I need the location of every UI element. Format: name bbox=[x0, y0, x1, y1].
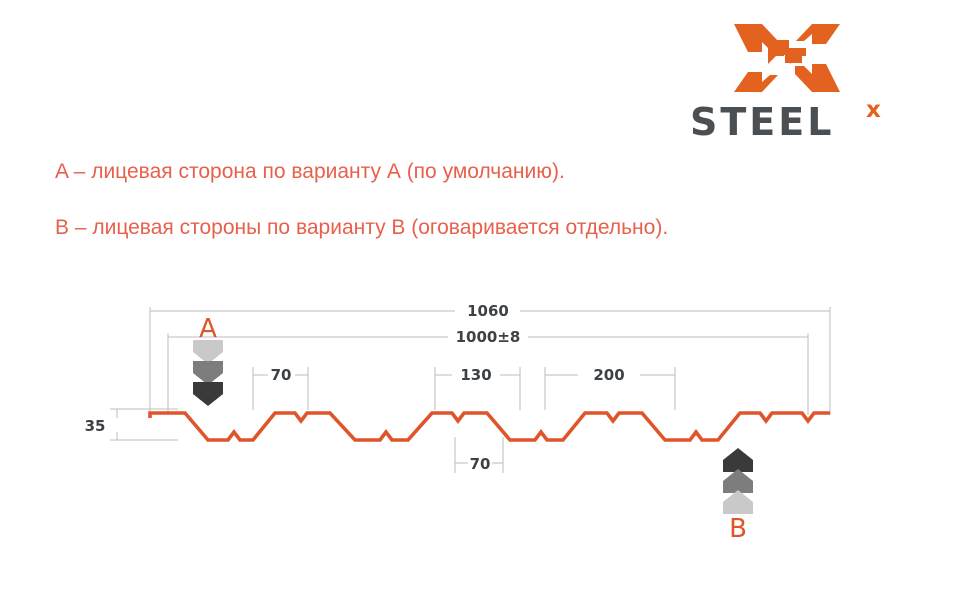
brand-logo: STEEL x bbox=[690, 18, 905, 148]
chevron-marker-a bbox=[193, 340, 223, 406]
dim-ridge-span: 130 bbox=[460, 366, 491, 384]
legend-note-variant-a: A – лицевая сторона по варианту А (по ум… bbox=[55, 160, 565, 184]
steelx-wordmark: STEEL x bbox=[690, 102, 905, 148]
profile-section-path bbox=[150, 413, 830, 440]
dim-useful-width: 1000±8 bbox=[456, 328, 521, 346]
dim-valley-bottom: 70 bbox=[470, 455, 491, 473]
wordmark-superscript-x: x bbox=[866, 98, 881, 122]
side-marker-b-label: B bbox=[729, 514, 747, 544]
dim-pitch: 200 bbox=[593, 366, 624, 384]
dimension-labels: 1060 1000±8 70 130 200 70 35 bbox=[85, 302, 625, 473]
dim-total-width: 1060 bbox=[467, 302, 509, 320]
wordmark-steel: STEEL bbox=[690, 102, 834, 142]
legend-note-variant-b: B – лицевая стороны по варианту B (огова… bbox=[55, 216, 668, 240]
profile-cross-section-drawing: 1060 1000±8 70 130 200 70 35 A B bbox=[0, 285, 970, 565]
chevron-marker-b bbox=[723, 448, 753, 514]
dim-ridge-top: 70 bbox=[271, 366, 292, 384]
steelx-x-mark-icon bbox=[732, 18, 842, 98]
side-marker-a-label: A bbox=[199, 314, 217, 344]
dim-height: 35 bbox=[85, 417, 106, 435]
